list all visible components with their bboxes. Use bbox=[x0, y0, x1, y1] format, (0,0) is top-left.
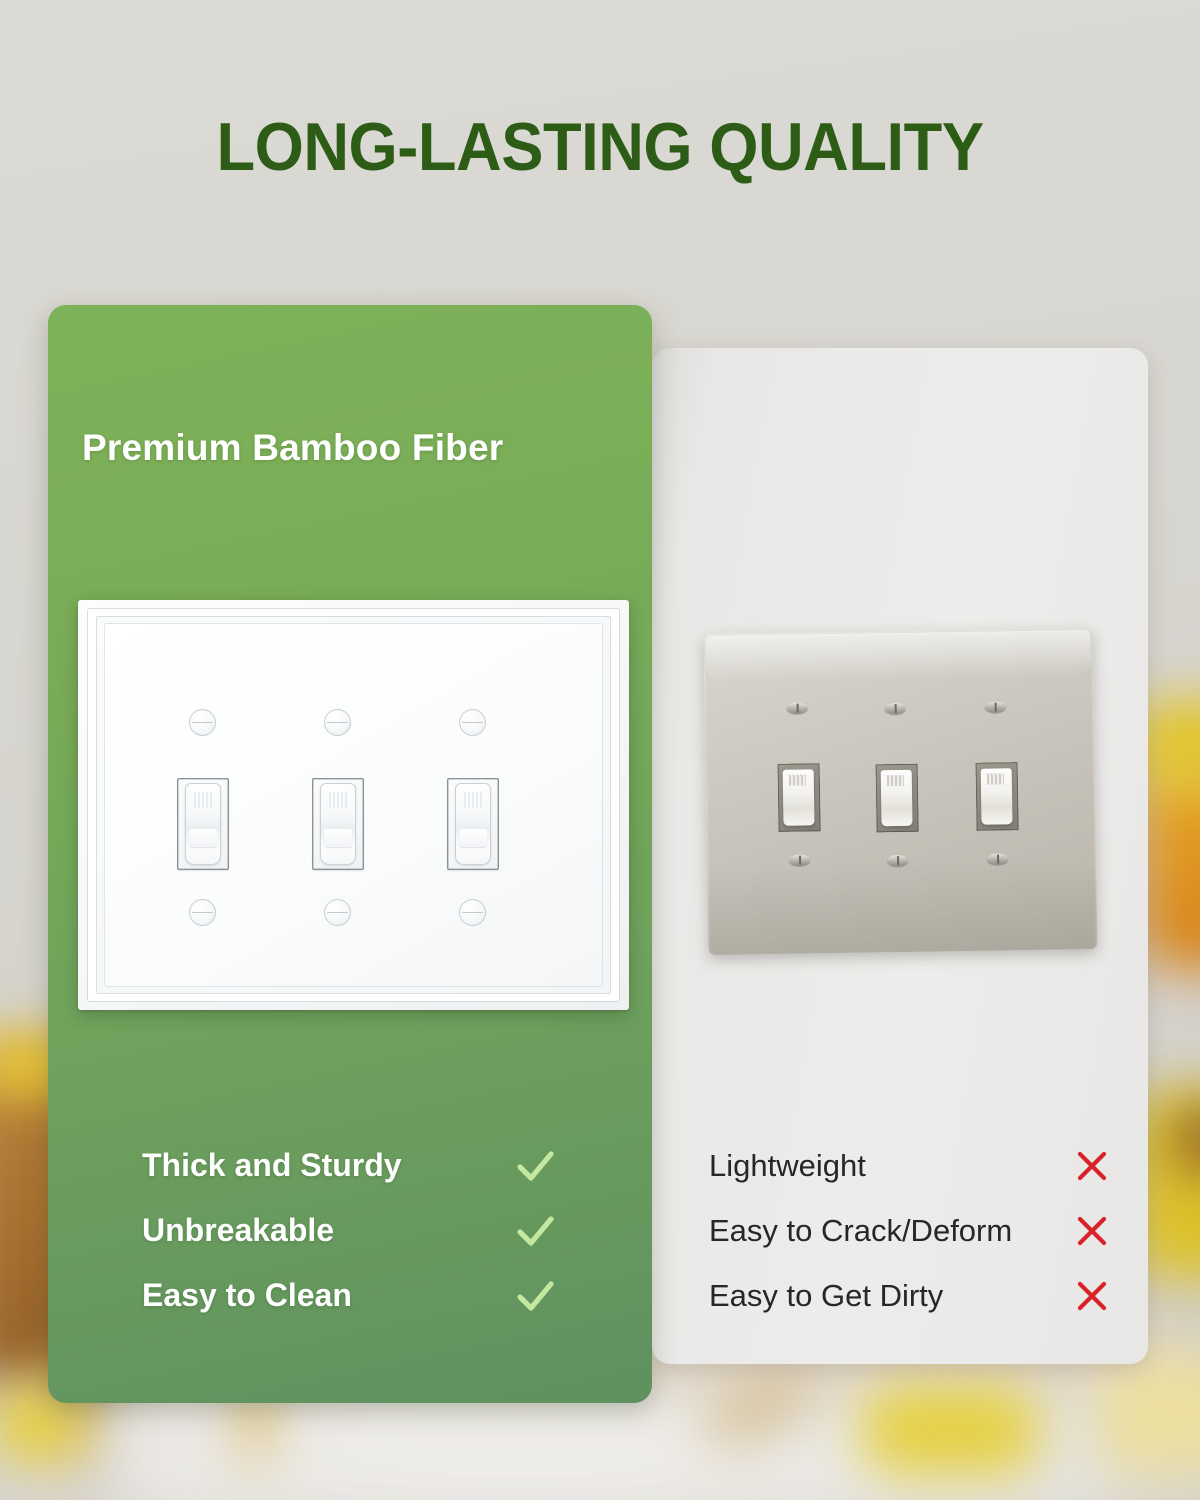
feature-label: Unbreakable bbox=[142, 1212, 334, 1249]
drawback-label: Easy to Get Dirty bbox=[709, 1278, 943, 1314]
plastic-toggle-left-lever bbox=[783, 769, 815, 825]
plastic-drawback-list: Lightweight Easy to Crack/Deform Easy to… bbox=[709, 1133, 1109, 1328]
round-object-bottom-right-blur bbox=[1095, 1355, 1200, 1475]
plastic-plate-gloss bbox=[706, 630, 1092, 682]
drawback-row: Easy to Crack/Deform bbox=[709, 1198, 1109, 1263]
drawback-label: Easy to Crack/Deform bbox=[709, 1213, 1012, 1249]
bamboo-feature-list: Thick and Sturdy Unbreakable Easy to Cle… bbox=[142, 1133, 557, 1328]
plastic-toggle-right bbox=[976, 762, 1019, 831]
cross-icon bbox=[1075, 1279, 1109, 1313]
wall-plate-toggle-left bbox=[177, 778, 229, 870]
cross-icon bbox=[1075, 1214, 1109, 1248]
plastic-toggle-center bbox=[876, 764, 919, 833]
wall-plate-screw-bottom-right bbox=[459, 899, 486, 926]
wall-plate-screw-bottom-center bbox=[324, 899, 351, 926]
premium-bamboo-fiber-heading: Premium Bamboo Fiber bbox=[82, 427, 503, 469]
feature-label: Thick and Sturdy bbox=[142, 1147, 402, 1184]
wall-plate-toggle-center-lever bbox=[320, 783, 356, 865]
feature-row: Thick and Sturdy bbox=[142, 1133, 557, 1198]
orange-furniture-right-blur bbox=[1140, 760, 1200, 970]
wall-plate-toggle-right bbox=[447, 778, 499, 870]
check-icon bbox=[513, 1274, 557, 1318]
plastic-toggle-center-lever bbox=[881, 770, 913, 826]
check-icon bbox=[513, 1144, 557, 1188]
drawback-label: Lightweight bbox=[709, 1148, 866, 1184]
wall-plate-screw-top-center bbox=[324, 709, 351, 736]
wall-plate-screw-top-left bbox=[189, 709, 216, 736]
wall-plate-screw-bottom-left bbox=[189, 899, 216, 926]
drawback-row: Lightweight bbox=[709, 1133, 1109, 1198]
feature-label: Easy to Clean bbox=[142, 1277, 352, 1314]
wall-plate-screw-top-right bbox=[459, 709, 486, 736]
check-icon bbox=[513, 1209, 557, 1253]
yellow-object-bottom-blur bbox=[860, 1385, 1040, 1475]
wall-plate-toggle-right-lever bbox=[455, 783, 491, 865]
feature-row: Unbreakable bbox=[142, 1198, 557, 1263]
wall-plate-face bbox=[105, 624, 602, 986]
cross-icon bbox=[1075, 1149, 1109, 1183]
feature-row: Easy to Clean bbox=[142, 1263, 557, 1328]
plastic-toggle-left bbox=[778, 763, 821, 832]
white-bamboo-fiber-wall-plate-image bbox=[78, 600, 629, 1010]
wall-plate-toggle-left-lever bbox=[185, 783, 221, 865]
plastic-toggle-right-lever bbox=[981, 768, 1013, 824]
wall-plate-toggle-center bbox=[312, 778, 364, 870]
page-title: LONG-LASTING QUALITY bbox=[42, 113, 1158, 181]
drawback-row: Easy to Get Dirty bbox=[709, 1263, 1109, 1328]
plastic-plate-shadow bbox=[707, 859, 1097, 955]
beige-plastic-wall-plate-image bbox=[704, 628, 1098, 955]
